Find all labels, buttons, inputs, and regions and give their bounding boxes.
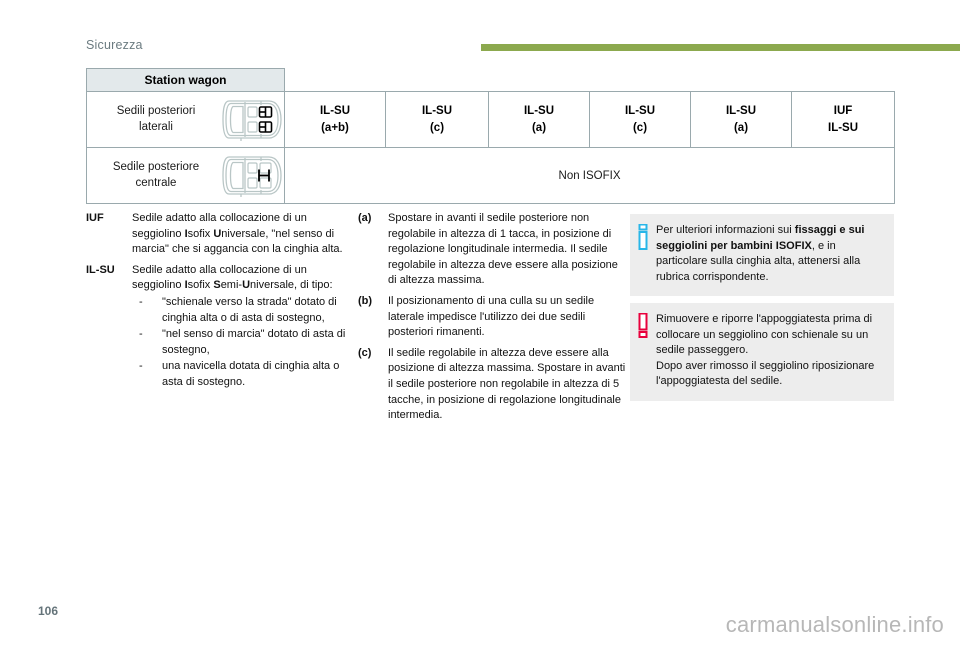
cell-main: IL-SU [422,105,452,117]
legend-body: Il sedile regolabile in altezza deve ess… [388,346,626,424]
car-top-view-rear-side-seats-icon [221,97,283,142]
legend-key: (b) [358,294,388,341]
row-label-rear-side-seats: Sedili posteriori laterali [87,92,285,148]
info-notice-box: Per ulteriori informazioni sui fissaggi … [630,214,894,296]
list-item: - una navicella dotata di cinghia alta o… [132,359,348,390]
legend-body: Sedile adatto alla collocazione di un se… [132,263,348,391]
car-top-view-rear-center-seat-icon [221,153,283,198]
cell-main: IL-SU [320,105,350,117]
legend-body: Spostare in avanti il sedile posteriore … [388,211,626,289]
info-i-icon [638,224,648,250]
row-label-text: Sedile posteriore centrale [87,160,221,191]
table-cell-non-isofix: Non ISOFIX [285,148,895,204]
list-item-text: "schienale verso la strada" dotato di ci… [162,295,348,326]
list-item-text: una navicella dotata di cinghia alta o a… [162,359,348,390]
cell-main: IUF [834,105,853,117]
legend-key: IUF [86,211,132,258]
legend-key: (a) [358,211,388,289]
info-notice-text: Per ulteriori informazioni sui fissaggi … [656,223,884,285]
legend-entry-ilsu: IL-SU Sedile adatto alla collocazione di… [86,263,348,391]
cell-sub: (a) [489,120,589,136]
row-label-line1: Sedili posteriori [117,105,196,117]
list-item: - "nel senso di marcia" dotato di asta d… [132,327,348,358]
list-item-text: "nel senso di marcia" dotato di asta di … [162,327,348,358]
legend-column-left: IUF Sedile adatto alla collocazione di u… [86,211,348,396]
legend-key: (c) [358,346,388,424]
dash-bullet-icon: - [132,327,162,358]
info-icon-wrap [638,223,656,285]
isofix-compatibility-table: Station wagon Sedili posteriori laterali [86,68,895,204]
exclamation-warning-icon [638,313,648,339]
row-label-line1: Sedile posteriore [113,161,199,173]
header-accent-rule [481,44,960,51]
cell-main: IL-SU [726,105,756,117]
row-label-text: Sedili posteriori laterali [87,104,221,135]
cell-main: IL-SU [625,105,655,117]
legend-entry-a: (a) Spostare in avanti il sedile posteri… [358,211,626,289]
legend-key: IL-SU [86,263,132,391]
cell-main: IL-SU [524,105,554,117]
row-label-line2: laterali [139,121,173,133]
legend-sublist: - "schienale verso la strada" dotato di … [132,295,348,391]
dash-bullet-icon: - [132,295,162,326]
row-label-line2: centrale [136,177,177,189]
page-number: 106 [38,604,58,618]
cell-sub: (a) [691,120,791,136]
cell-sub: (a+b) [285,120,385,136]
table-title-cell: Station wagon [87,69,285,92]
legend-entry-c: (c) Il sedile regolabile in altezza deve… [358,346,626,424]
table-cell-value: IUF IL-SU [792,92,895,148]
table-cell-value: IL-SU (c) [386,92,489,148]
cell-sub: (c) [590,120,690,136]
table-row: Sedili posteriori laterali [87,92,895,148]
table-cell-value: IL-SU (a+b) [285,92,386,148]
table-row: Sedile posteriore centrale [87,148,895,204]
warning-notice-text: Rimuovere e riporre l'appoggiatesta prim… [656,312,884,390]
cell-sub: IL-SU [792,120,894,136]
table-cell-value: IL-SU (a) [489,92,590,148]
legend-body: Il posizionamento di una culla su un sed… [388,294,626,341]
table-cell-value: IL-SU (a) [691,92,792,148]
row-label-rear-center-seat: Sedile posteriore centrale [87,148,285,204]
legend-body: Sedile adatto alla collocazione di un se… [132,211,348,258]
warning-notice-box: Rimuovere e riporre l'appoggiatesta prim… [630,303,894,401]
legend-entry-b: (b) Il posizionamento di una culla su un… [358,294,626,341]
table-title-spacer [285,69,895,92]
cell-sub: (c) [386,120,488,136]
site-watermark: carmanualsonline.info [726,612,944,638]
list-item: - "schienale verso la strada" dotato di … [132,295,348,326]
warning-icon-wrap [638,312,656,390]
legend-column-middle: (a) Spostare in avanti il sedile posteri… [358,211,626,429]
dash-bullet-icon: - [132,359,162,390]
legend-entry-iuf: IUF Sedile adatto alla collocazione di u… [86,211,348,258]
page-section-title: Sicurezza [86,38,143,52]
table-cell-value: IL-SU (c) [590,92,691,148]
table-title-row: Station wagon [87,69,895,92]
